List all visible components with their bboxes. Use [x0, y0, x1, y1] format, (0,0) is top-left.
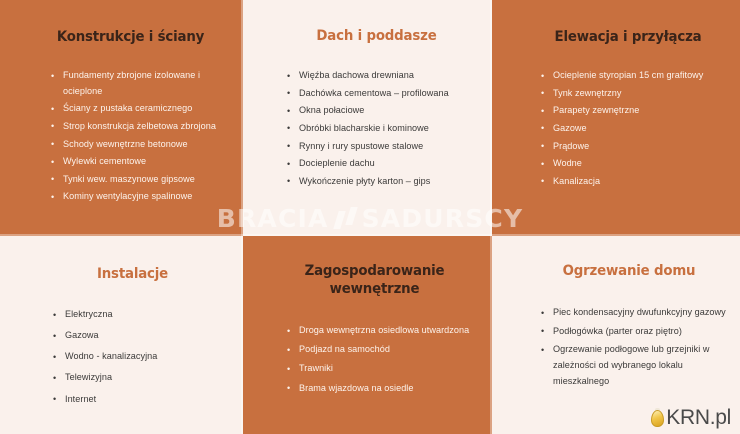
list-item: Ocieplenie styropian 15 cm grafitowy — [540, 68, 724, 84]
list-item: Kanalizacja — [540, 174, 724, 190]
list-item: Internet — [52, 392, 223, 408]
panel-title-dach: Dach i poddasze — [287, 27, 466, 45]
panel-zagospodarowanie: Zagospodarowanie wewnętrzne Droga wewnęt… — [243, 236, 492, 434]
standard-finish-board: Konstrukcje i ściany Fundamenty zbrojone… — [0, 0, 740, 434]
list-item: Tynk zewnętrzny — [540, 86, 724, 102]
list-item: Fundamenty zbrojone izolowane i ocieplon… — [50, 68, 221, 99]
panel-list-dach: Więźba dachowa drewniana Dachówka cement… — [279, 68, 474, 189]
list-item: Wylewki cementowe — [50, 154, 221, 170]
list-item: Obróbki blacharskie i kominowe — [286, 121, 474, 137]
list-item: Więźba dachowa drewniana — [286, 68, 474, 84]
panel-instalacje: Instalacje Elektryczna Gazowa Wodno - ka… — [0, 236, 243, 434]
panel-list-elewacja: Ocieplenie styropian 15 cm grafitowy Tyn… — [532, 68, 724, 189]
panel-title-konstrukcje: Konstrukcje i ściany — [47, 28, 214, 46]
panel-list-zagospodarowanie: Droga wewnętrzna osiedlowa utwardzona Po… — [279, 323, 470, 396]
list-item: Ściany z pustaka ceramicznego — [50, 101, 221, 117]
panel-elewacja: Elewacja i przyłącza Ocieplenie styropia… — [492, 0, 740, 236]
list-item: Parapety zewnętrzne — [540, 103, 724, 119]
list-item: Elektryczna — [52, 307, 223, 323]
list-item: Wodno - kanalizacyjna — [52, 349, 223, 365]
list-item: Trawniki — [286, 361, 470, 377]
panel-title-instalacje: Instalacje — [49, 265, 216, 283]
list-item: Ogrzewanie podłogowe lub grzejniki w zal… — [540, 342, 726, 389]
list-item: Strop konstrukcja żelbetowa zbrojona — [50, 119, 221, 135]
list-item: Piec kondensacyjny dwufunkcyjny gazowy — [540, 305, 726, 321]
list-item: Brama wjazdowa na osiedle — [286, 381, 470, 397]
panel-list-ogrzewanie: Piec kondensacyjny dwufunkcyjny gazowy P… — [532, 305, 726, 389]
panel-list-instalacje: Elektryczna Gazowa Wodno - kanalizacyjna… — [42, 307, 223, 407]
list-item: Gazowe — [540, 121, 724, 137]
list-item: Gazowa — [52, 328, 223, 344]
panel-dach: Dach i poddasze Więźba dachowa drewniana… — [243, 0, 492, 236]
list-item: Kominy wentylacyjne spalinowe — [50, 189, 221, 205]
panel-title-elewacja: Elewacja i przyłącza — [540, 28, 717, 46]
panel-list-konstrukcje: Fundamenty zbrojone izolowane i ocieplon… — [40, 68, 221, 205]
list-item: Schody wewnętrzne betonowe — [50, 137, 221, 153]
panel-konstrukcje: Konstrukcje i ściany Fundamenty zbrojone… — [0, 0, 243, 236]
list-item: Docieplenie dachu — [286, 156, 474, 172]
panel-ogrzewanie: Ogrzewanie domu Piec kondensacyjny dwufu… — [492, 236, 740, 434]
krn-logo-text: KRN.pl — [666, 407, 731, 428]
list-item: Telewizyjna — [52, 370, 223, 386]
panel-title-ogrzewanie: Ogrzewanie domu — [540, 262, 718, 280]
list-item: Prądowe — [540, 139, 724, 155]
list-item: Okna połaciowe — [286, 103, 474, 119]
bulb-icon — [650, 408, 665, 428]
list-item: Droga wewnętrzna osiedlowa utwardzona — [286, 323, 470, 339]
list-item: Wodne — [540, 156, 724, 172]
list-item: Rynny i rury spustowe stalowe — [286, 139, 474, 155]
list-item: Dachówka cementowa – profilowana — [286, 86, 474, 102]
list-item: Podłogówka (parter oraz piętro) — [540, 324, 726, 340]
krn-logo[interactable]: KRN.pl — [650, 407, 731, 428]
list-item: Podjazd na samochód — [286, 342, 470, 358]
list-item: Wykończenie płyty karton – gips — [286, 174, 474, 190]
panel-title-zagospodarowanie: Zagospodarowanie wewnętrzne — [287, 262, 463, 298]
list-item: Tynki wew. maszynowe gipsowe — [50, 172, 221, 188]
